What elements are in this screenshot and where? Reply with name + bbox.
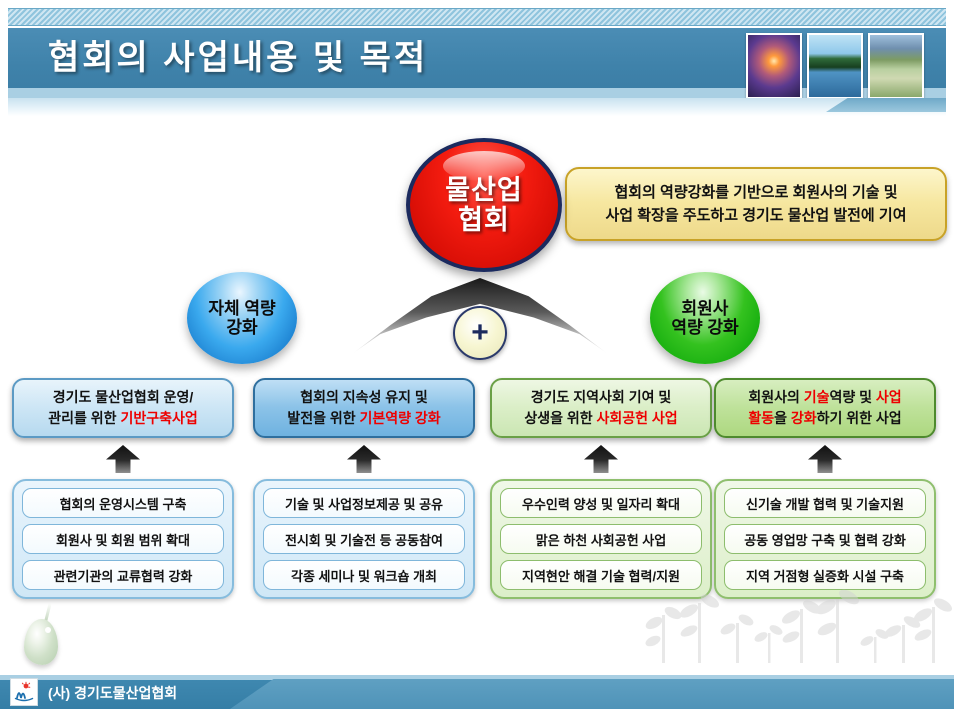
sphere-member-capability: 회원사 역량 강화 — [650, 272, 760, 364]
page-title: 협회의 사업내용 및 목적 — [48, 30, 428, 79]
sphere-left-line-1: 자체 역량 — [208, 299, 275, 318]
column-2-item-list: 기술 및 사업정보제공 및 공유 전시회 및 기술전 등 공동참여 각종 세미나… — [253, 479, 475, 599]
column-1-heading-line-2: 관리를 위한 기반구축사업 — [48, 408, 197, 429]
list-item: 회원사 및 회원 범위 확대 — [22, 524, 224, 554]
header-swoosh-divider — [8, 98, 946, 116]
mission-callout-box: 협회의 역량강화를 기반으로 회원사의 기술 및 사업 확장을 주도하고 경기도… — [565, 167, 947, 241]
up-arrow-icon — [808, 445, 842, 473]
badge-line-2: 협회 — [458, 205, 510, 235]
list-item: 지역 거점형 실증화 시설 구축 — [724, 560, 926, 590]
list-item: 맑은 하천 사회공헌 사업 — [500, 524, 702, 554]
water-droplet-decoration — [24, 619, 58, 665]
up-arrow-icon — [347, 445, 381, 473]
column-2-heading: 협회의 지속성 유지 및 발전을 위한 기본역량 강화 — [253, 378, 475, 438]
list-item: 공동 영업망 구축 및 협력 강화 — [724, 524, 926, 554]
up-arrow-icon — [584, 445, 618, 473]
sphere-right-line-1: 회원사 — [682, 299, 729, 318]
column-4-item-list: 신기술 개발 협력 및 기술지원 공동 영업망 구축 및 협력 강화 지역 거점… — [714, 479, 936, 599]
column-social-contribution: 경기도 지역사회 기여 및 상생을 위한 사회공헌 사업 우수인력 양성 및 일… — [490, 378, 712, 599]
column-4-heading-line-1: 회원사의 기술역량 및 사업 — [748, 387, 901, 408]
central-association-badge: 물산업 협회 — [406, 138, 562, 272]
callout-line-2: 사업 확장을 주도하고 경기도 물산업 발전에 기여 — [605, 204, 906, 227]
footer-sweep — [230, 679, 954, 709]
forest-lake-reflection-photo — [807, 33, 863, 99]
column-foundation: 경기도 물산업협회 운영/ 관리를 위한 기반구축사업 협회의 운영시스템 구축… — [12, 378, 234, 599]
column-1-item-list: 협회의 운영시스템 구축 회원사 및 회원 범위 확대 관련기관의 교류협력 강… — [12, 479, 234, 599]
footer-organization-name: (사) 경기도물산업협회 — [48, 683, 177, 703]
callout-line-1: 협회의 역량강화를 기반으로 회원사의 기술 및 — [614, 181, 897, 204]
list-item: 각종 세미나 및 워크숍 개최 — [263, 560, 465, 590]
slide-canvas: 협회의 사업내용 및 목적 + 물산업 협회 협회의 역량강화를 기반으로 회원… — [0, 0, 954, 709]
column-1-heading: 경기도 물산업협회 운영/ 관리를 위한 기반구축사업 — [12, 378, 234, 438]
list-item: 기술 및 사업정보제공 및 공유 — [263, 488, 465, 518]
list-item: 협회의 운영시스템 구축 — [22, 488, 224, 518]
header-thumbnail-group — [746, 33, 924, 99]
sphere-internal-capability: 자체 역량 강화 — [187, 272, 297, 364]
association-logo-icon — [10, 678, 38, 706]
column-4-heading: 회원사의 기술역량 및 사업 활동을 강화하기 위한 사업 — [714, 378, 936, 438]
badge-line-1: 물산업 — [445, 175, 523, 205]
list-item: 관련기관의 교류협력 강화 — [22, 560, 224, 590]
sphere-left-line-2: 강화 — [226, 318, 257, 337]
top-decorative-stripe — [8, 8, 946, 26]
converging-arrow-graphic: + — [352, 278, 608, 370]
list-item: 우수인력 양성 및 일자리 확대 — [500, 488, 702, 518]
column-3-item-list: 우수인력 양성 및 일자리 확대 맑은 하천 사회공헌 사업 지역현안 해결 기… — [490, 479, 712, 599]
column-1-heading-line-1: 경기도 물산업협회 운영/ — [53, 387, 193, 408]
column-2-heading-line-2: 발전을 위한 기본역량 강화 — [287, 408, 440, 429]
sprout-decoration — [640, 589, 954, 663]
sunset-over-water-photo — [746, 33, 802, 99]
list-item: 지역현안 해결 기술 협력/지원 — [500, 560, 702, 590]
plus-icon: + — [471, 318, 489, 348]
sphere-right-line-2: 역량 강화 — [671, 318, 738, 337]
river-valley-landscape-photo — [868, 33, 924, 99]
plus-badge: + — [453, 306, 507, 360]
column-core-capability: 협회의 지속성 유지 및 발전을 위한 기본역량 강화 기술 및 사업정보제공 … — [253, 378, 475, 599]
strategy-columns: 경기도 물산업협회 운영/ 관리를 위한 기반구축사업 협회의 운영시스템 구축… — [0, 378, 954, 608]
up-arrow-icon — [106, 445, 140, 473]
column-member-business: 회원사의 기술역량 및 사업 활동을 강화하기 위한 사업 신기술 개발 협력 … — [714, 378, 936, 599]
list-item: 신기술 개발 협력 및 기술지원 — [724, 488, 926, 518]
footer: (사) 경기도물산업협회 — [0, 675, 954, 709]
column-4-heading-line-2: 활동을 강화하기 위한 사업 — [748, 408, 901, 429]
column-3-heading-line-2: 상생을 위한 사회공헌 사업 — [524, 408, 677, 429]
column-3-heading: 경기도 지역사회 기여 및 상생을 위한 사회공헌 사업 — [490, 378, 712, 438]
list-item: 전시회 및 기술전 등 공동참여 — [263, 524, 465, 554]
column-3-heading-line-1: 경기도 지역사회 기여 및 — [531, 387, 671, 408]
column-2-heading-line-1: 협회의 지속성 유지 및 — [300, 387, 428, 408]
